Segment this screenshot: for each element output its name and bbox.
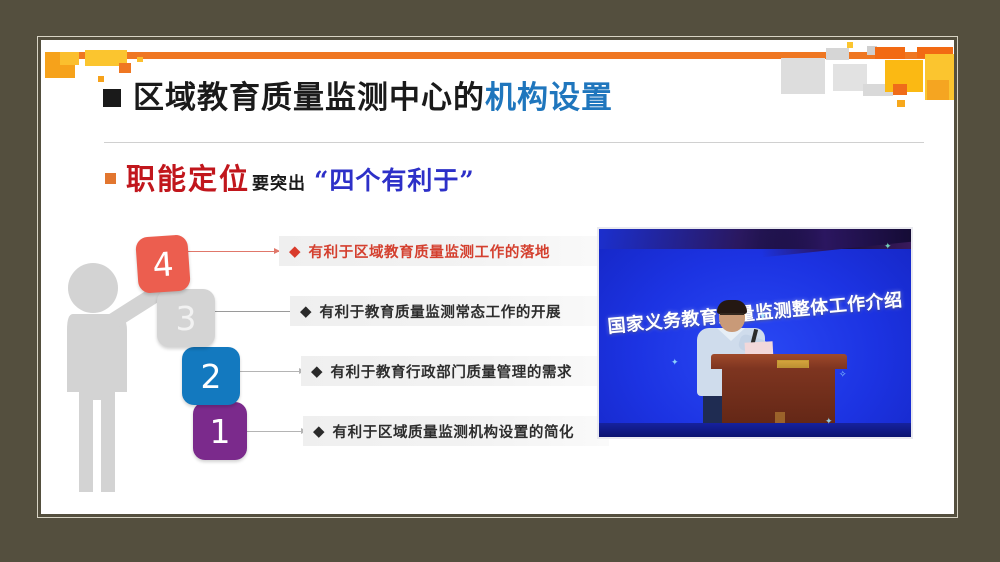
connector-arrow-1-icon — [238, 431, 306, 432]
photo-sparkle-icon-2: ✦ — [759, 311, 767, 322]
step-block-1-number: 1 — [210, 412, 231, 451]
connector-arrow-4-icon — [181, 251, 279, 252]
photo-sparkle-icon-4: ✦ — [825, 416, 833, 427]
benefit-row-1[interactable]: ◆ 有利于区域质量监测机构设置的简化 — [303, 416, 609, 446]
step-block-3[interactable]: 3 — [157, 289, 215, 347]
connector-arrow-3-icon — [204, 311, 299, 312]
benefit-row-3[interactable]: ◆ 有利于教育质量监测常态工作的开展 — [290, 296, 609, 326]
benefit-diamond-icon-4: ◆ — [289, 244, 301, 259]
step-block-4-number: 4 — [151, 244, 175, 284]
benefit-diamond-icon-2: ◆ — [311, 364, 323, 379]
benefit-diamond-icon-3: ◆ — [300, 304, 312, 319]
step-block-2-number: 2 — [201, 357, 222, 396]
presentation-slide: 区域教育质量监测中心的机构设置 职能定位 要突出 “四个有利于” — [41, 40, 954, 514]
photo-sparkle-icon-5: ✦ — [884, 241, 892, 252]
step-block-1[interactable]: 1 — [193, 402, 247, 460]
photo-sparkle-icon-1: ✦ — [671, 357, 679, 368]
photo-content: 国家义务教育质量监测整体工作介绍 ✦ ✦ ✧ ✦ ✦ — [599, 229, 911, 437]
connector-arrow-2-icon — [229, 371, 304, 372]
speaker-glasses-icon — [720, 313, 744, 319]
step-block-2[interactable]: 2 — [182, 347, 240, 405]
photo-sparkle-icon-3: ✧ — [839, 369, 847, 380]
benefit-text-3: 有利于教育质量监测常态工作的开展 — [320, 301, 562, 322]
step-block-4[interactable]: 4 — [135, 234, 191, 293]
speaker-hair — [717, 300, 747, 314]
benefit-text-2: 有利于教育行政部门质量管理的需求 — [331, 361, 573, 382]
slide-viewer: 区域教育质量监测中心的机构设置 职能定位 要突出 “四个有利于” — [0, 0, 1000, 562]
photo-stage-floor — [599, 423, 911, 437]
benefit-row-2[interactable]: ◆ 有利于教育行政部门质量管理的需求 — [301, 356, 609, 386]
benefit-row-4[interactable]: ◆ 有利于区域教育质量监测工作的落地 — [279, 236, 609, 266]
benefit-text-4: 有利于区域教育质量监测工作的落地 — [309, 241, 551, 262]
step-block-3-number: 3 — [176, 299, 197, 338]
speaker-photo: 国家义务教育质量监测整体工作介绍 ✦ ✦ ✧ ✦ ✦ — [597, 227, 913, 439]
benefit-text-1: 有利于区域质量监测机构设置的简化 — [333, 421, 575, 442]
benefit-diamond-icon-1: ◆ — [313, 424, 325, 439]
